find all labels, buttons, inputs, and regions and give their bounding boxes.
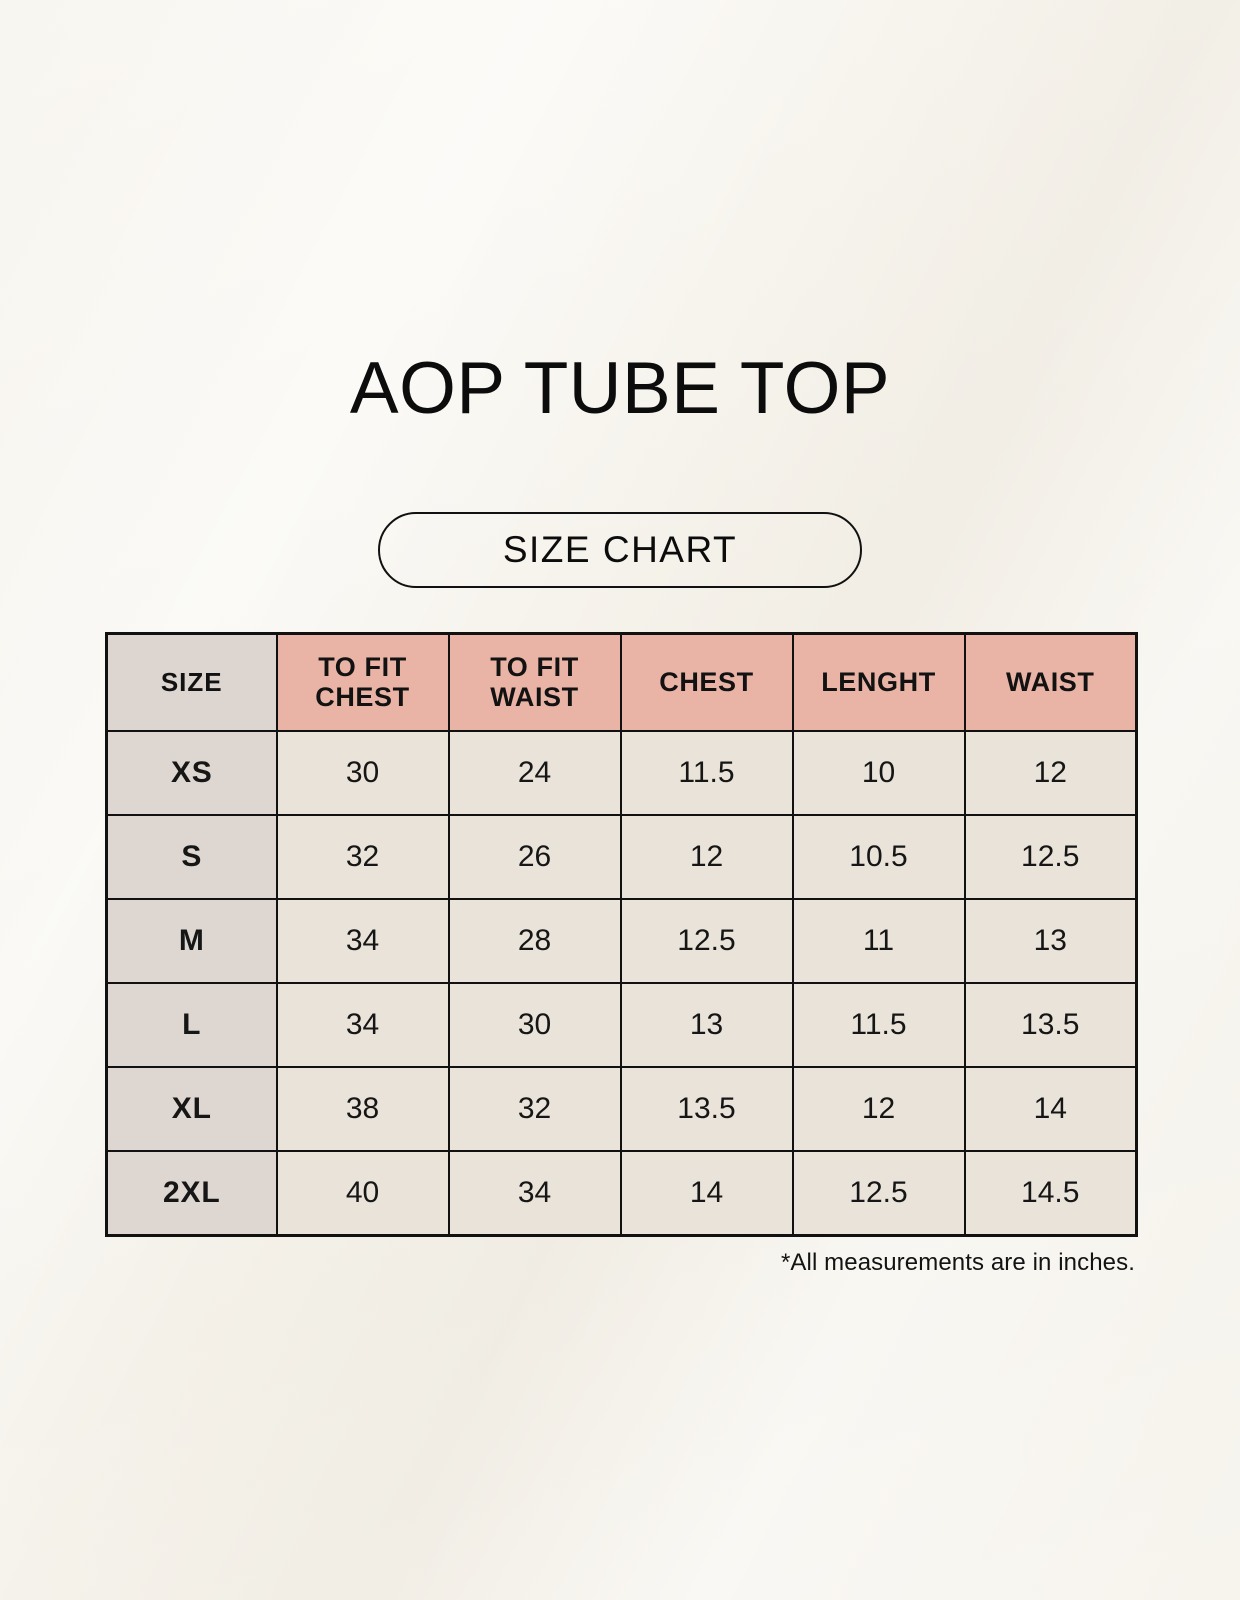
cell-to-fit-waist: 30 xyxy=(449,983,621,1067)
table-row: S 32 26 12 10.5 12.5 xyxy=(107,815,1137,899)
table-row: 2XL 40 34 14 12.5 14.5 xyxy=(107,1151,1137,1236)
cell-size: L xyxy=(107,983,277,1067)
cell-to-fit-waist: 28 xyxy=(449,899,621,983)
table-row: M 34 28 12.5 11 13 xyxy=(107,899,1137,983)
cell-size: XS xyxy=(107,731,277,815)
size-table-container: SIZE TO FIT CHEST TO FIT WAIST CHEST LEN… xyxy=(105,632,1135,1277)
cell-chest: 13 xyxy=(621,983,793,1067)
cell-chest: 13.5 xyxy=(621,1067,793,1151)
cell-size: XL xyxy=(107,1067,277,1151)
cell-to-fit-chest: 30 xyxy=(277,731,449,815)
cell-size: 2XL xyxy=(107,1151,277,1236)
cell-chest: 11.5 xyxy=(621,731,793,815)
cell-to-fit-waist: 24 xyxy=(449,731,621,815)
cell-lenght: 10.5 xyxy=(793,815,965,899)
cell-waist: 12 xyxy=(965,731,1137,815)
header-line-1: TO FIT xyxy=(318,652,407,682)
cell-lenght: 10 xyxy=(793,731,965,815)
cell-waist: 14.5 xyxy=(965,1151,1137,1236)
column-header-chest: CHEST xyxy=(621,633,793,731)
cell-size: S xyxy=(107,815,277,899)
table-header: SIZE TO FIT CHEST TO FIT WAIST CHEST LEN… xyxy=(107,633,1137,731)
cell-lenght: 11.5 xyxy=(793,983,965,1067)
size-chart-badge: SIZE CHART xyxy=(378,512,862,588)
cell-to-fit-waist: 26 xyxy=(449,815,621,899)
table-row: XS 30 24 11.5 10 12 xyxy=(107,731,1137,815)
cell-waist: 12.5 xyxy=(965,815,1137,899)
table-row: L 34 30 13 11.5 13.5 xyxy=(107,983,1137,1067)
header-row: SIZE TO FIT CHEST TO FIT WAIST CHEST LEN… xyxy=(107,633,1137,731)
size-chart-sheet: AOP TUBE TOP SIZE CHART SIZE TO FIT CHES… xyxy=(0,0,1240,1600)
cell-to-fit-chest: 40 xyxy=(277,1151,449,1236)
size-chart-badge-label: SIZE CHART xyxy=(503,531,737,568)
column-header-size: SIZE xyxy=(107,633,277,731)
page-title: AOP TUBE TOP xyxy=(350,352,890,425)
column-header-waist: WAIST xyxy=(965,633,1137,731)
column-header-to-fit-chest: TO FIT CHEST xyxy=(277,633,449,731)
measurement-units-note: *All measurements are in inches. xyxy=(105,1249,1135,1277)
cell-waist: 14 xyxy=(965,1067,1137,1151)
size-chart-table: SIZE TO FIT CHEST TO FIT WAIST CHEST LEN… xyxy=(105,632,1138,1237)
column-header-lenght: LENGHT xyxy=(793,633,965,731)
cell-chest: 12 xyxy=(621,815,793,899)
header-line-2: WAIST xyxy=(490,682,579,712)
cell-waist: 13 xyxy=(965,899,1137,983)
table-row: XL 38 32 13.5 12 14 xyxy=(107,1067,1137,1151)
cell-chest: 14 xyxy=(621,1151,793,1236)
header-line-1: TO FIT xyxy=(490,652,579,682)
column-header-to-fit-waist: TO FIT WAIST xyxy=(449,633,621,731)
cell-lenght: 12.5 xyxy=(793,1151,965,1236)
cell-to-fit-chest: 34 xyxy=(277,983,449,1067)
cell-chest: 12.5 xyxy=(621,899,793,983)
cell-waist: 13.5 xyxy=(965,983,1137,1067)
header-line-2: CHEST xyxy=(315,682,410,712)
cell-to-fit-chest: 38 xyxy=(277,1067,449,1151)
cell-to-fit-chest: 34 xyxy=(277,899,449,983)
cell-to-fit-waist: 34 xyxy=(449,1151,621,1236)
cell-lenght: 12 xyxy=(793,1067,965,1151)
cell-to-fit-waist: 32 xyxy=(449,1067,621,1151)
table-body: XS 30 24 11.5 10 12 S 32 26 12 10.5 12.5… xyxy=(107,731,1137,1236)
cell-size: M xyxy=(107,899,277,983)
cell-lenght: 11 xyxy=(793,899,965,983)
cell-to-fit-chest: 32 xyxy=(277,815,449,899)
